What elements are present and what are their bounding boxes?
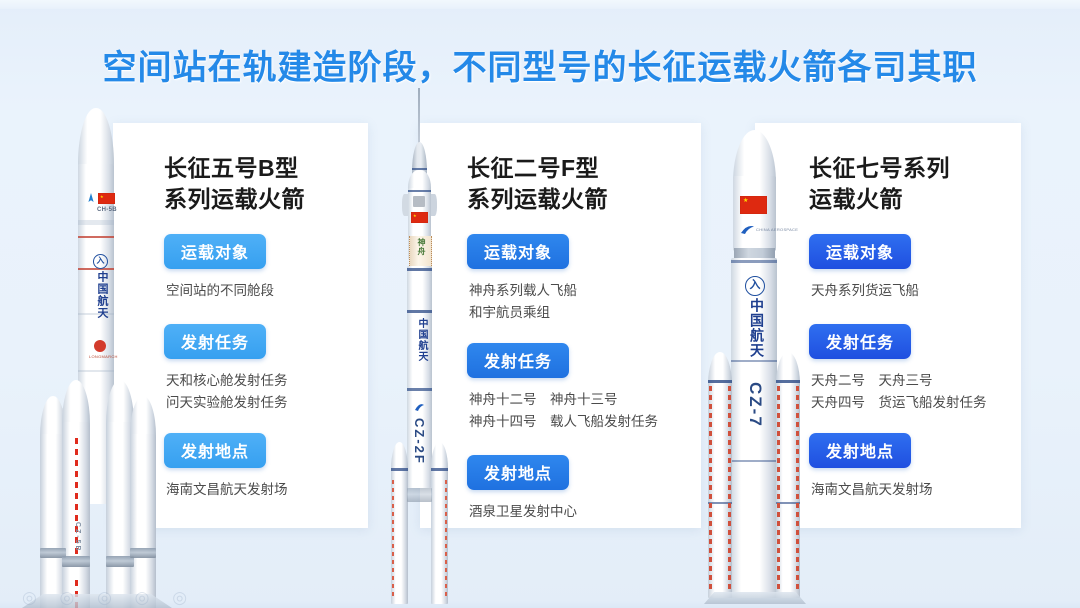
text-line: 神舟系列载人飞船 [469, 280, 658, 302]
section-label-site[interactable]: 发射地点 [164, 433, 266, 468]
card-title-line1: 长征七号系列 [809, 153, 987, 184]
text-line: 酒泉卫星发射中心 [469, 501, 658, 523]
service-panel [413, 196, 425, 207]
casc-logo-icon [414, 400, 425, 411]
card-title: 长征七号系列 运载火箭 [809, 153, 987, 214]
casc-badge-icon: 入 [745, 276, 765, 296]
text-line: 神舟十二号 神舟十三号 [469, 389, 658, 411]
section-text-missions: 天和核心舱发射任务 问天实验舱发射任务 [166, 370, 305, 414]
booster-band [776, 380, 800, 383]
casc-logo-icon [741, 222, 755, 233]
stage-ring [78, 268, 114, 270]
text-line: 问天实验舱发射任务 [166, 392, 305, 414]
agency-vertical-text: 中国航天 [94, 271, 110, 319]
spacecraft-vertical-text: 神舟 [416, 238, 427, 256]
text-line: 天和核心舱发射任务 [166, 370, 305, 392]
rocket-illustration-cz7: ★ CHINA AEROSPACE 入 中国航天 CZ-7 [700, 130, 820, 608]
booster-band [431, 468, 448, 471]
engine-section [130, 548, 156, 558]
stage-band [78, 220, 114, 225]
text-line: 海南文昌航天发射场 [811, 479, 987, 501]
partner-logo-icon [94, 340, 106, 352]
card-title-line2: 系列运载火箭 [164, 184, 305, 215]
nose-cone [78, 108, 114, 168]
booster-band [708, 380, 732, 383]
china-flag-icon: ★ [411, 212, 428, 223]
stage-band [731, 360, 777, 362]
booster-stripe [709, 386, 712, 590]
rocket-illustration-cz2f: ★ 神舟 中国航天 CZ-2F [378, 88, 474, 518]
rocket-illustration-cz5b: ★ CH-5B 入 中国航天 LONGMARCH CZ-5B [18, 108, 178, 608]
section-label-payload[interactable]: 运载对象 [467, 234, 569, 269]
section-label-payload[interactable]: 运载对象 [809, 234, 911, 269]
booster-stripe [796, 386, 799, 590]
booster-stripe [392, 480, 394, 596]
section-label-missions[interactable]: 发射任务 [164, 324, 266, 359]
page-title: 空间站在轨建造阶段，不同型号的长征运载火箭各司其职 [0, 40, 1080, 89]
stage-band [407, 268, 432, 271]
booster-band [391, 468, 408, 471]
casc-logo-icon [86, 193, 96, 207]
section-text-payload: 神舟系列载人飞船 和宇航员乘组 [469, 280, 658, 324]
text-line: 海南文昌航天发射场 [166, 479, 305, 501]
china-flag-icon: ★ [740, 196, 767, 214]
stage-band [731, 460, 777, 462]
slide-canvas: 空间站在轨建造阶段，不同型号的长征运载火箭各司其职 ★ CH-5B 入 中国航天… [0, 0, 1080, 608]
text-line: 神舟十四号 载人飞船发射任务 [469, 411, 658, 433]
section-text-missions: 神舟十二号 神舟十三号 神舟十四号 载人飞船发射任务 [469, 389, 658, 433]
section-text-site: 海南文昌航天发射场 [166, 479, 305, 501]
booster [130, 434, 156, 608]
escape-tower-fin [402, 194, 408, 216]
card-title-line2: 系列运载火箭 [467, 184, 658, 215]
section-text-payload: 空间站的不同舱段 [166, 280, 305, 302]
section-label-payload[interactable]: 运载对象 [164, 234, 266, 269]
top-accent-strip [0, 0, 1080, 9]
engine-section [62, 556, 90, 567]
card-title: 长征五号B型 系列运载火箭 [164, 153, 305, 214]
section-label-site[interactable]: 发射地点 [809, 433, 911, 468]
rocket-designation-label: CZ-2F [412, 418, 427, 465]
rocket-latin-label: CH-5B [97, 207, 117, 213]
text-line: 天舟二号 天舟三号 [811, 370, 987, 392]
escape-tower-fin [431, 194, 437, 216]
text-line: 空间站的不同舱段 [166, 280, 305, 302]
text-line: 天舟系列货运飞船 [811, 280, 987, 302]
card-title-line1: 长征五号B型 [164, 153, 305, 184]
text-line: 和宇航员乘组 [469, 302, 658, 324]
section-label-site[interactable]: 发射地点 [467, 455, 569, 490]
booster-stripe [728, 386, 731, 590]
section-text-site: 酒泉卫星发射中心 [469, 501, 658, 523]
section-text-missions: 天舟二号 天舟三号 天舟四号 货运飞船发射任务 [811, 370, 987, 414]
section-text-payload: 天舟系列货运飞船 [811, 280, 987, 302]
stage-band [78, 370, 114, 372]
partner-logo-text: LONGMARCH [89, 354, 118, 359]
booster-stripe [777, 386, 780, 590]
card-title: 长征二号F型 系列运载火箭 [467, 153, 658, 214]
text-line: 天舟四号 货运飞船发射任务 [811, 392, 987, 414]
rocket-designation-label: CZ-7 [745, 382, 765, 428]
agency-vertical-text: 中国航天 [414, 318, 429, 362]
card-title-line1: 长征二号F型 [467, 153, 658, 184]
agency-vertical-text: 中国航天 [747, 298, 767, 358]
section-text-site: 海南文昌航天发射场 [811, 479, 987, 501]
stage-ring [78, 236, 114, 238]
casc-badge-icon: 入 [93, 254, 108, 269]
fairing-band [408, 190, 431, 192]
stage-band [407, 310, 432, 313]
escape-tower-spire [418, 88, 420, 146]
rocket-designation-label: CZ-5B [74, 522, 81, 553]
engine-section [407, 488, 432, 502]
booster-stripe [445, 480, 447, 596]
section-label-missions[interactable]: 发射任务 [467, 343, 569, 378]
agency-latin-label: CHINA AEROSPACE [756, 227, 798, 232]
watermark: ◎ ◎ ◎ ◎ ◎ [22, 588, 196, 608]
china-flag-icon: ★ [98, 193, 115, 204]
section-label-missions[interactable]: 发射任务 [809, 324, 911, 359]
launch-pad [704, 592, 806, 604]
card-title-line2: 运载火箭 [809, 184, 987, 215]
stage-band [407, 388, 432, 391]
stage-band [731, 260, 777, 263]
